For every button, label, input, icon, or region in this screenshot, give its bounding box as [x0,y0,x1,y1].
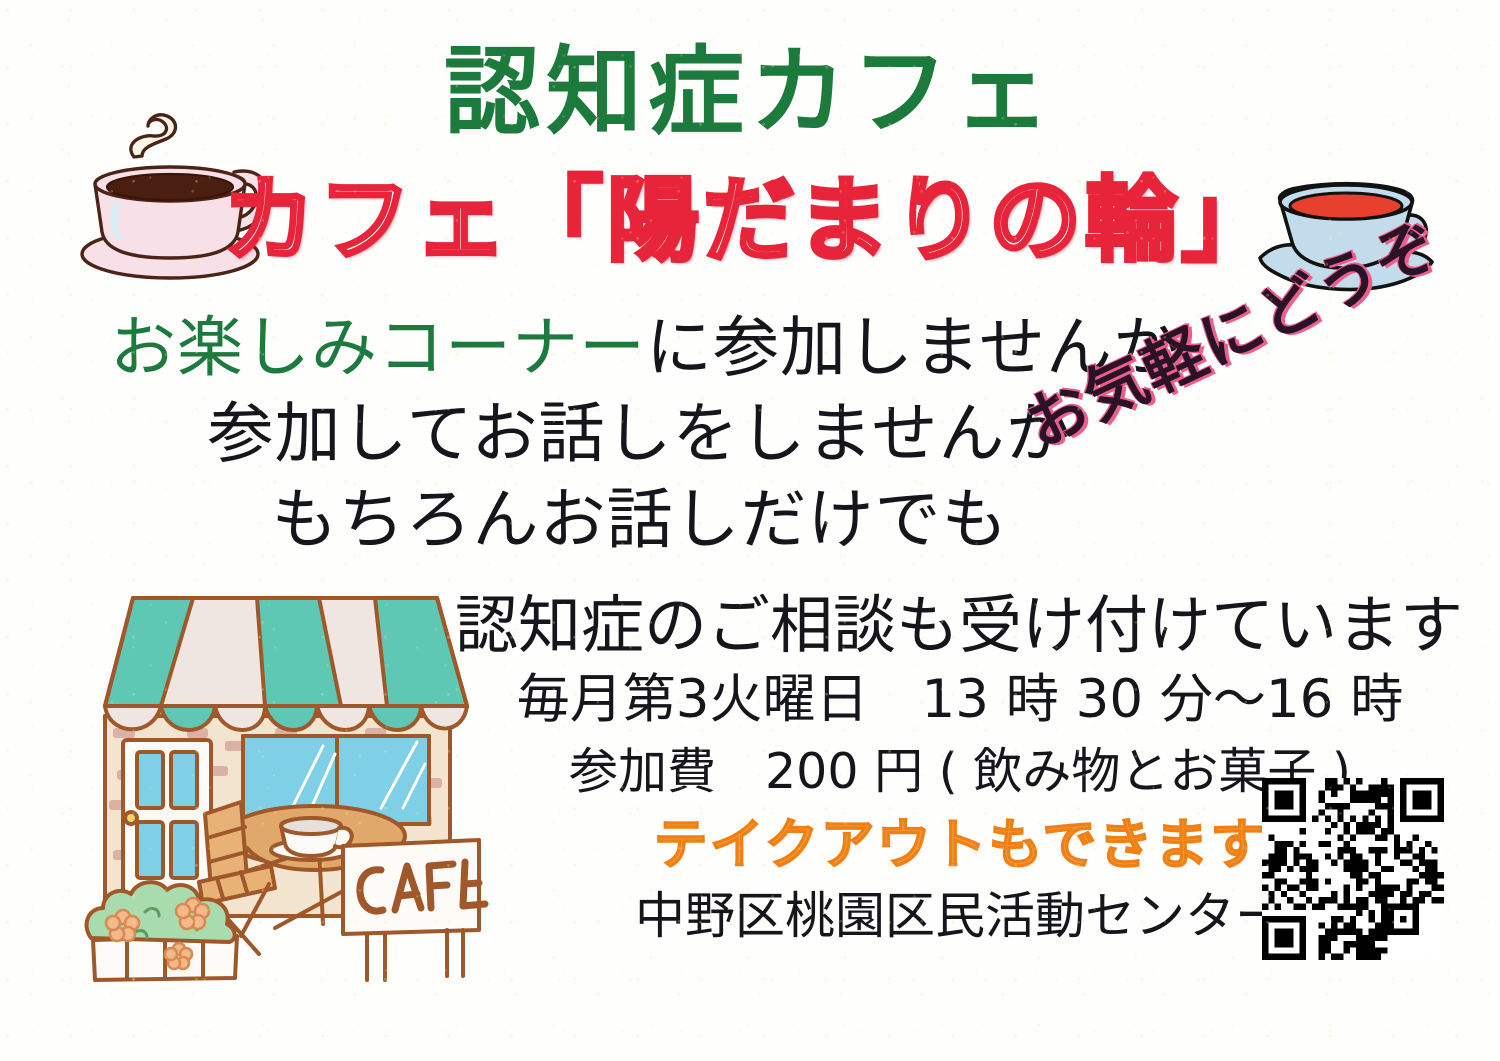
poster-canvas: 認知症カフェ カフェ「陽だまりの輪」 お楽しみコーナーに参加しませんか 参加して… [0,0,1500,1061]
invite-line-3: もちろんお話しだけでも [110,477,1170,563]
invite-line-2: 参加してお話しをしませんか [110,391,1170,477]
consultation-headline: 認知症のご相談も受け付けています [455,588,1465,664]
invite-line-1: お楽しみコーナーに参加しませんか [110,305,1170,391]
invitation-block: お楽しみコーナーに参加しませんか 参加してお話しをしませんか もちろんお話しだけ… [110,305,1170,563]
page-subtitle: カフェ「陽だまりの輪」 [0,175,1500,267]
page-title: 認知症カフェ [0,44,1500,140]
qr-code[interactable] [1262,778,1444,960]
cafe-storefront-illustration [75,578,490,988]
schedule-line: 毎月第3火曜日 13 時 30 分〜16 時 [455,664,1465,736]
invite-line-1-highlight: お楽しみコーナー [110,309,646,386]
